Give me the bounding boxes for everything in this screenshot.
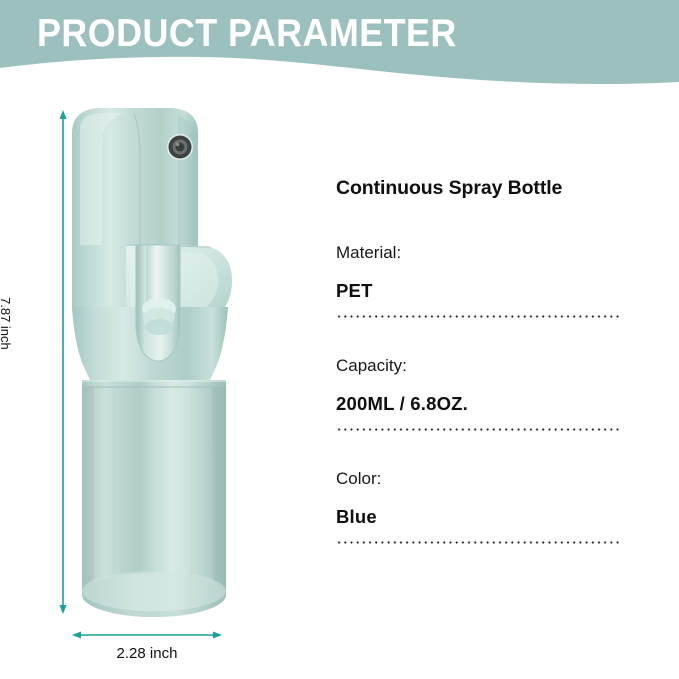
spec-row-color: Color: Blue	[336, 468, 621, 544]
spec-separator	[336, 315, 621, 318]
width-dimension-label: 2.28 inch	[72, 645, 222, 662]
spec-separator	[336, 541, 621, 544]
spec-label-capacity: Capacity:	[336, 355, 621, 377]
spray-nozzle-icon	[167, 134, 193, 160]
header-banner: PRODUCT PARAMETER	[0, 0, 679, 90]
page-title: PRODUCT PARAMETER	[37, 11, 457, 57]
height-dimension-label: 7.87 inch	[0, 297, 13, 350]
spec-value-color: Blue	[336, 505, 621, 528]
product-name: Continuous Spray Bottle	[336, 176, 636, 200]
spec-value-capacity: 200ML / 6.8OZ.	[336, 392, 621, 415]
spec-separator	[336, 428, 621, 431]
spray-bottle-illustration	[60, 95, 250, 635]
spec-row-material: Material: PET	[336, 242, 621, 318]
spec-label-color: Color:	[336, 468, 621, 490]
spec-row-capacity: Capacity: 200ML / 6.8OZ.	[336, 355, 621, 431]
pump-window	[136, 203, 182, 361]
spec-panel: Continuous Spray Bottle Material: PET Ca…	[336, 176, 636, 200]
spec-label-material: Material:	[336, 242, 621, 264]
spec-value-material: PET	[336, 279, 621, 302]
bottle-base	[82, 571, 226, 617]
